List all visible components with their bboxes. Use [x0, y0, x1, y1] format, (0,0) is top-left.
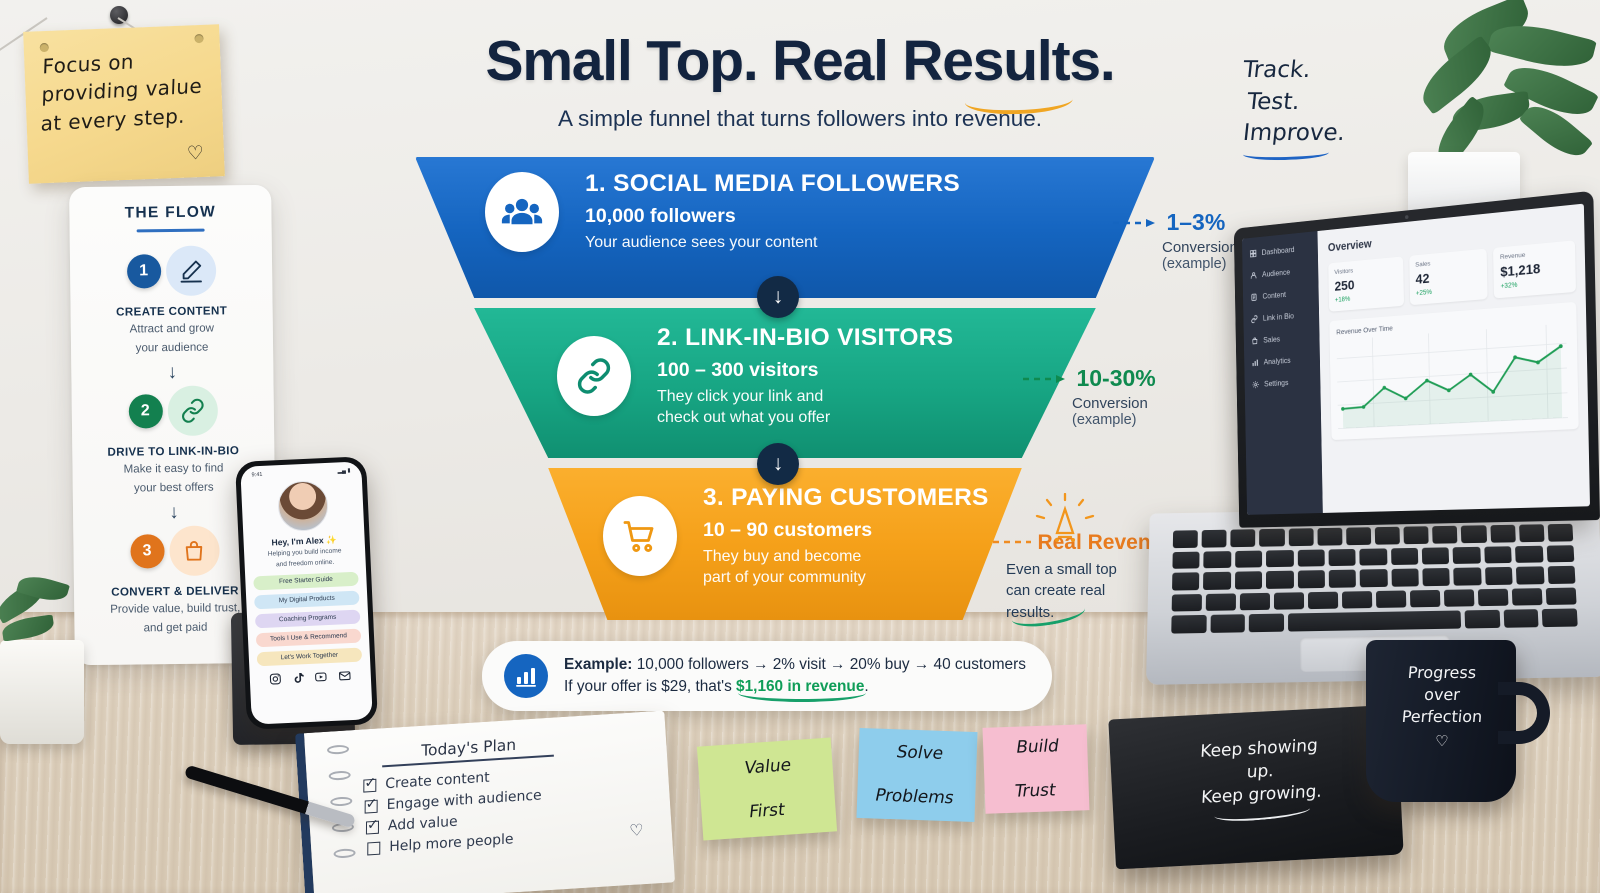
key — [1202, 530, 1227, 548]
example-flow-text: 10,000 followers → 2% visit → 20% buy → … — [632, 656, 1025, 673]
status-time: 9:41 — [251, 472, 262, 478]
stat-value: 250 — [1334, 273, 1397, 293]
key — [1391, 569, 1419, 587]
people-group-icon — [485, 172, 559, 252]
status-icons: ▂▄ ▮ — [337, 468, 350, 475]
stage-desc-1: They buy and become — [703, 546, 989, 567]
conversion-percent: 1–3% — [1166, 209, 1225, 236]
link-chain-icon — [557, 336, 631, 416]
step-desc-1: Attract and grow — [81, 320, 263, 338]
note-card: Focus on providing value at every step. … — [23, 24, 225, 183]
smartphone[interactable]: 9:41 ▂▄ ▮ Hey, I'm Alex ✨ Helping you bu… — [235, 456, 378, 730]
hanging-sticky-note: Focus on providing value at every step. … — [14, 6, 234, 186]
mug-line-1: Progress — [1379, 662, 1505, 684]
sticky-note-text: Build Trust — [1013, 735, 1059, 803]
bio-link-1[interactable]: Free Starter Guide — [253, 571, 359, 590]
key — [1266, 571, 1293, 589]
phone-screen[interactable]: 9:41 ▂▄ ▮ Hey, I'm Alex ✨ Helping you bu… — [240, 461, 373, 724]
key-row — [1173, 524, 1573, 548]
key — [1297, 549, 1324, 567]
stage-content: 2. LINK-IN-BIO VISITORS 100 – 300 visito… — [557, 324, 953, 429]
content-icon — [1250, 293, 1257, 302]
key — [1504, 610, 1539, 628]
stat-card-row: Visitors 250 +18% Sales 42 +25% Revenue … — [1328, 240, 1576, 311]
key — [1346, 527, 1371, 545]
journal-book: Keep showing up. Keep growing. — [1108, 705, 1403, 870]
coffee-mug: Progress over Perfection ♡ — [1366, 640, 1516, 802]
key — [1288, 528, 1313, 546]
stat-card-sales[interactable]: Sales 42 +25% — [1409, 249, 1488, 306]
key — [1547, 566, 1575, 584]
laptop-lid: Dashboard Audience Content — [1234, 191, 1600, 528]
heart-icon: ♡ — [1380, 732, 1504, 750]
key — [1240, 593, 1270, 611]
sticky-line-2: Problems — [873, 785, 956, 810]
stat-card-revenue[interactable]: Revenue $1,218 +32% — [1493, 240, 1576, 298]
key-row — [1172, 587, 1577, 612]
key — [1203, 572, 1231, 590]
small-plant — [0, 560, 76, 656]
sidebar-item-content[interactable]: Content — [1250, 288, 1311, 301]
key — [1485, 567, 1513, 585]
stat-delta: +32% — [1501, 278, 1570, 291]
key — [1172, 572, 1200, 590]
sidebar-item-link-in-bio[interactable]: Link in Bio — [1251, 310, 1312, 323]
sticky-line-2: First — [742, 798, 791, 824]
sticky-line-1: Build — [1014, 735, 1060, 759]
flow-step-badges: 1 — [80, 245, 263, 297]
example-line-2: If your offer is $29, that's $1,160 in r… — [564, 678, 1026, 696]
key — [1173, 530, 1198, 548]
stat-delta: +18% — [1335, 292, 1398, 304]
step-number: 2 — [128, 394, 162, 428]
key — [1376, 590, 1406, 608]
audience-icon — [1250, 271, 1257, 280]
infographic-scene: Focus on providing value at every step. … — [0, 0, 1600, 893]
stage-content: 1. SOCIAL MEDIA FOLLOWERS 10,000 followe… — [485, 170, 960, 253]
stage-desc-2: part of your community — [703, 567, 989, 588]
conversion-example-note: (example) — [1162, 256, 1238, 272]
sidebar-label: Analytics — [1264, 356, 1291, 366]
key — [1490, 525, 1516, 543]
avatar — [276, 480, 328, 532]
sidebar-label: Link in Bio — [1263, 312, 1294, 323]
step-number: 3 — [130, 534, 164, 568]
key — [1548, 524, 1574, 542]
key — [1360, 548, 1388, 566]
conversion-callout-1: 1–3% Conversion (example) — [1113, 209, 1238, 272]
stage-desc-2: check out what you offer — [657, 407, 953, 428]
spacebar-key — [1288, 611, 1462, 632]
webcam-icon — [1405, 215, 1409, 219]
pencil-icon — [165, 246, 216, 297]
step-label: CONVERT & DELIVER — [84, 584, 266, 599]
note-line-2: Test. — [1245, 87, 1346, 119]
stage-texts: 2. LINK-IN-BIO VISITORS 100 – 300 visito… — [657, 324, 953, 429]
key — [1308, 591, 1338, 609]
bio-link-5[interactable]: Let's Work Together — [257, 647, 363, 666]
key — [1375, 527, 1400, 545]
step-number: 1 — [126, 255, 160, 289]
key — [1465, 610, 1500, 628]
sticky-note-text: Value First — [743, 754, 791, 824]
mug-line-3: Perfection — [1379, 706, 1505, 728]
example-revenue-amount: $1,160 in revenue — [736, 678, 864, 695]
key — [1515, 545, 1543, 563]
dashed-connector — [993, 537, 1033, 547]
bio-link-4[interactable]: Tools I Use & Recommend — [256, 628, 362, 647]
lightbulb-icon — [1035, 493, 1095, 554]
notebook: Today's Plan Create content Engage with … — [295, 711, 675, 893]
key — [1231, 529, 1256, 547]
stage-desc-1: They click your link and — [657, 386, 953, 407]
key — [1410, 590, 1440, 608]
dashboard-sidebar[interactable]: Dashboard Audience Content — [1242, 231, 1323, 515]
sidebar-label: Content — [1262, 290, 1286, 300]
stat-delta: +25% — [1416, 285, 1482, 297]
key — [1172, 551, 1199, 569]
phone-status-bar: 9:41 ▂▄ ▮ — [248, 468, 353, 479]
sidebar-label: Settings — [1264, 379, 1288, 389]
stat-card-visitors[interactable]: Visitors 250 +18% — [1328, 256, 1404, 311]
sales-icon — [1251, 337, 1258, 346]
flow-step-1[interactable]: 1 CREATE CONTENT Attract and grow your a… — [80, 245, 263, 357]
shopping-bag-icon — [169, 526, 220, 577]
sidebar-item-dashboard[interactable]: Dashboard — [1249, 244, 1310, 258]
key — [1210, 615, 1245, 633]
spiral-binding — [327, 744, 350, 754]
sidebar-label: Sales — [1263, 335, 1280, 344]
conversion-label: Conversion — [1072, 395, 1156, 412]
dashboard-icon — [1249, 249, 1256, 258]
sidebar-label: Audience — [1262, 268, 1290, 279]
key — [1391, 547, 1419, 565]
bar-chart-icon — [504, 654, 548, 698]
heart-icon: ♡ — [186, 142, 204, 166]
example-label: Example: — [564, 656, 632, 673]
sticky-line-2: Trust — [1012, 779, 1058, 803]
funnel-stage-1[interactable]: 1. SOCIAL MEDIA FOLLOWERS 10,000 followe… — [415, 148, 1155, 298]
sticky-note-build-trust: Build Trust — [983, 724, 1090, 814]
sticky-note-text: Solve Problems — [874, 741, 960, 810]
key — [1329, 570, 1357, 588]
instagram-icon[interactable] — [268, 672, 282, 686]
checkbox-checked-icon[interactable] — [363, 778, 376, 792]
key — [1546, 545, 1574, 563]
link-icon — [1251, 315, 1258, 324]
checklist-label: Add value — [388, 813, 458, 833]
link-icon — [167, 386, 218, 437]
youtube-icon[interactable] — [314, 670, 329, 684]
spiral-binding — [328, 770, 351, 780]
stage-content: 3. PAYING CUSTOMERS 10 – 90 customers Th… — [603, 484, 989, 589]
shopping-cart-icon — [603, 496, 677, 576]
key — [1512, 588, 1543, 606]
gear-icon — [1252, 380, 1259, 389]
journal-underline — [1214, 807, 1310, 824]
key — [1260, 529, 1285, 547]
pin-hole — [194, 34, 203, 43]
note-line-1: Track. — [1241, 55, 1346, 87]
flow-step-badges: 2 — [82, 385, 265, 437]
key-row — [1171, 609, 1577, 634]
note-line-3: Improve. — [1241, 118, 1346, 150]
key — [1235, 550, 1262, 568]
sticky-line-1: Value — [743, 754, 792, 780]
key-row — [1172, 545, 1574, 569]
pin-hole — [40, 43, 49, 52]
step-label: CREATE CONTENT — [81, 304, 263, 319]
sidebar-item-audience[interactable]: Audience — [1250, 266, 1311, 280]
stage-title: 2. LINK-IN-BIO VISITORS — [657, 324, 953, 352]
stage-metric: 10,000 followers — [585, 205, 960, 228]
conversion-example-note: (example) — [1072, 412, 1156, 428]
key — [1249, 614, 1284, 632]
key — [1478, 589, 1509, 607]
analytics-icon — [1251, 358, 1258, 367]
flow-arrow-icon: ↓ — [81, 362, 263, 383]
key — [1422, 547, 1450, 565]
spiral-binding — [330, 796, 353, 806]
key — [1274, 592, 1304, 610]
bio-link-3[interactable]: Coaching Programs — [255, 609, 361, 628]
key — [1206, 593, 1236, 611]
key — [1204, 551, 1231, 569]
checklist-label: Help more people — [389, 831, 513, 855]
step-label: DRIVE TO LINK-IN-BIO — [82, 444, 264, 459]
conversion-callout-2: 10-30% Conversion (example) — [1023, 365, 1156, 428]
stage-texts: 3. PAYING CUSTOMERS 10 – 90 customers Th… — [703, 484, 989, 589]
checkbox-unchecked-icon[interactable] — [367, 841, 380, 855]
email-icon[interactable] — [338, 669, 353, 683]
conversion-label: Conversion — [1162, 239, 1238, 256]
key — [1328, 549, 1355, 567]
example-line-1: Example: 10,000 followers → 2% visit → 2… — [564, 656, 1026, 674]
sidebar-item-sales[interactable]: Sales — [1251, 333, 1312, 346]
revenue-chart-panel: Revenue Over Time — [1329, 302, 1578, 440]
key — [1235, 571, 1262, 589]
flow-panel-title: THE FLOW — [79, 203, 261, 223]
key — [1444, 589, 1475, 607]
key — [1172, 594, 1202, 612]
key — [1542, 609, 1578, 627]
dashed-connector — [1113, 218, 1155, 228]
stage-texts: 1. SOCIAL MEDIA FOLLOWERS 10,000 followe… — [585, 170, 960, 253]
track-test-improve-note: Track. Test. Improve. — [1243, 55, 1345, 160]
key — [1454, 568, 1482, 586]
dashboard-main: Overview Visitors 250 +18% Sales 42 +25%… — [1317, 204, 1590, 513]
stage-desc-1: Your audience sees your content — [585, 232, 960, 253]
stat-value: $1,218 — [1500, 258, 1569, 280]
key — [1432, 526, 1457, 544]
revenue-line-chart — [1336, 323, 1568, 433]
sidebar-label: Dashboard — [1262, 245, 1295, 256]
dashed-connector — [1023, 374, 1065, 384]
conversion-percent: 10-30% — [1076, 365, 1155, 392]
step-desc-2: your audience — [81, 339, 263, 357]
key — [1342, 591, 1372, 609]
key — [1422, 568, 1450, 586]
title-underline — [137, 229, 205, 233]
key — [1461, 525, 1486, 543]
key — [1404, 526, 1429, 544]
dashboard-screen[interactable]: Dashboard Audience Content — [1242, 204, 1590, 515]
sidebar-item-settings[interactable]: Settings — [1252, 377, 1313, 389]
key — [1484, 546, 1512, 564]
underline-stroke — [1243, 151, 1329, 161]
checkbox-checked-icon[interactable] — [366, 820, 379, 834]
key — [1266, 550, 1293, 568]
note-text: Focus on providing value at every step. — [40, 43, 206, 138]
key — [1360, 569, 1388, 587]
key — [1171, 615, 1206, 633]
bio-link-2[interactable]: My Digital Products — [254, 590, 360, 609]
key — [1317, 528, 1342, 546]
example-texts: Example: 10,000 followers → 2% visit → 2… — [564, 656, 1026, 696]
sidebar-item-analytics[interactable]: Analytics — [1251, 355, 1312, 367]
key — [1519, 524, 1545, 542]
callout-row: 1–3% — [1113, 209, 1238, 236]
keyboard[interactable] — [1171, 524, 1577, 634]
checkbox-checked-icon[interactable] — [365, 799, 378, 813]
mug-line-2: over — [1379, 684, 1505, 706]
stage-metric: 100 – 300 visitors — [657, 359, 953, 382]
stage-title: 1. SOCIAL MEDIA FOLLOWERS — [585, 170, 960, 198]
funnel-arrow-2: ↓ — [757, 443, 799, 485]
example-offer-text: If your offer is $29, that's — [564, 678, 736, 695]
callout-row: 10-30% — [1023, 365, 1156, 392]
example-callout: Example: 10,000 followers → 2% visit → 2… — [482, 641, 1052, 711]
tiktok-icon[interactable] — [291, 671, 305, 685]
stat-value: 42 — [1415, 266, 1481, 287]
funnel-arrow-1: ↓ — [757, 276, 799, 318]
stage-title: 3. PAYING CUSTOMERS — [703, 484, 989, 512]
sticky-note-value-first: Value First — [697, 737, 837, 840]
sticky-line-1: Solve — [878, 741, 961, 766]
checklist-label: Create content — [385, 769, 489, 792]
key — [1453, 546, 1481, 564]
key — [1546, 587, 1577, 605]
sticky-note-solve-problems: Solve Problems — [856, 728, 977, 822]
social-icon-row — [258, 668, 363, 686]
spiral-binding — [333, 848, 356, 858]
heart-icon: ♡ — [629, 820, 645, 841]
key — [1297, 570, 1324, 588]
key-row — [1172, 566, 1575, 590]
stage-metric: 10 – 90 customers — [703, 519, 989, 542]
key — [1516, 567, 1544, 585]
